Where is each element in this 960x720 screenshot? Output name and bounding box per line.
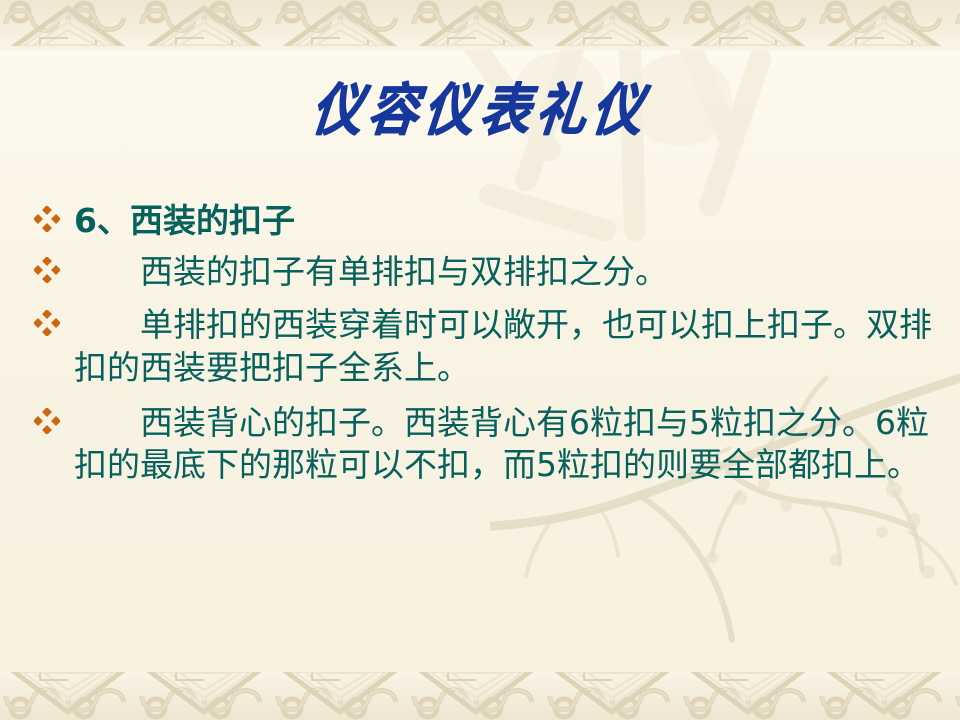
- diamond-cluster-bullet-icon: [34, 304, 74, 336]
- bullet-item: 单排扣的西装穿着时可以敞开，也可以扣上扣子。双排扣的西装要把扣子全系上。: [34, 304, 934, 390]
- top-decorative-border: [0, 0, 960, 50]
- bullet-text: 6、西装的扣子: [74, 200, 934, 243]
- bullet-text: 西装的扣子有单排扣与双排扣之分。: [74, 251, 934, 294]
- slide-title-container: 仪容仪表礼仪: [0, 82, 960, 137]
- bullet-text: 西装背心的扣子。西装背心有6粒扣与5粒扣之分。6粒扣的最底下的那粒可以不扣，而5…: [74, 402, 934, 488]
- slide-body: 6、西装的扣子 西装的扣子有单排扣与双排扣之分。: [34, 200, 934, 489]
- diamond-cluster-bullet-icon: [34, 200, 74, 232]
- diamond-cluster-bullet-icon: [34, 251, 74, 283]
- bullet-text: 单排扣的西装穿着时可以敞开，也可以扣上扣子。双排扣的西装要把扣子全系上。: [74, 304, 934, 390]
- bullet-item: 西装背心的扣子。西装背心有6粒扣与5粒扣之分。6粒扣的最底下的那粒可以不扣，而5…: [34, 402, 934, 488]
- diamond-cluster-bullet-icon: [34, 402, 74, 434]
- bullet-item: 西装的扣子有单排扣与双排扣之分。: [34, 251, 934, 294]
- bottom-decorative-border: [0, 668, 960, 720]
- slide: 仪容仪表礼仪 6、西装的扣子: [0, 0, 960, 720]
- slide-title: 仪容仪表礼仪: [309, 79, 651, 141]
- bullet-item: 6、西装的扣子: [34, 200, 934, 243]
